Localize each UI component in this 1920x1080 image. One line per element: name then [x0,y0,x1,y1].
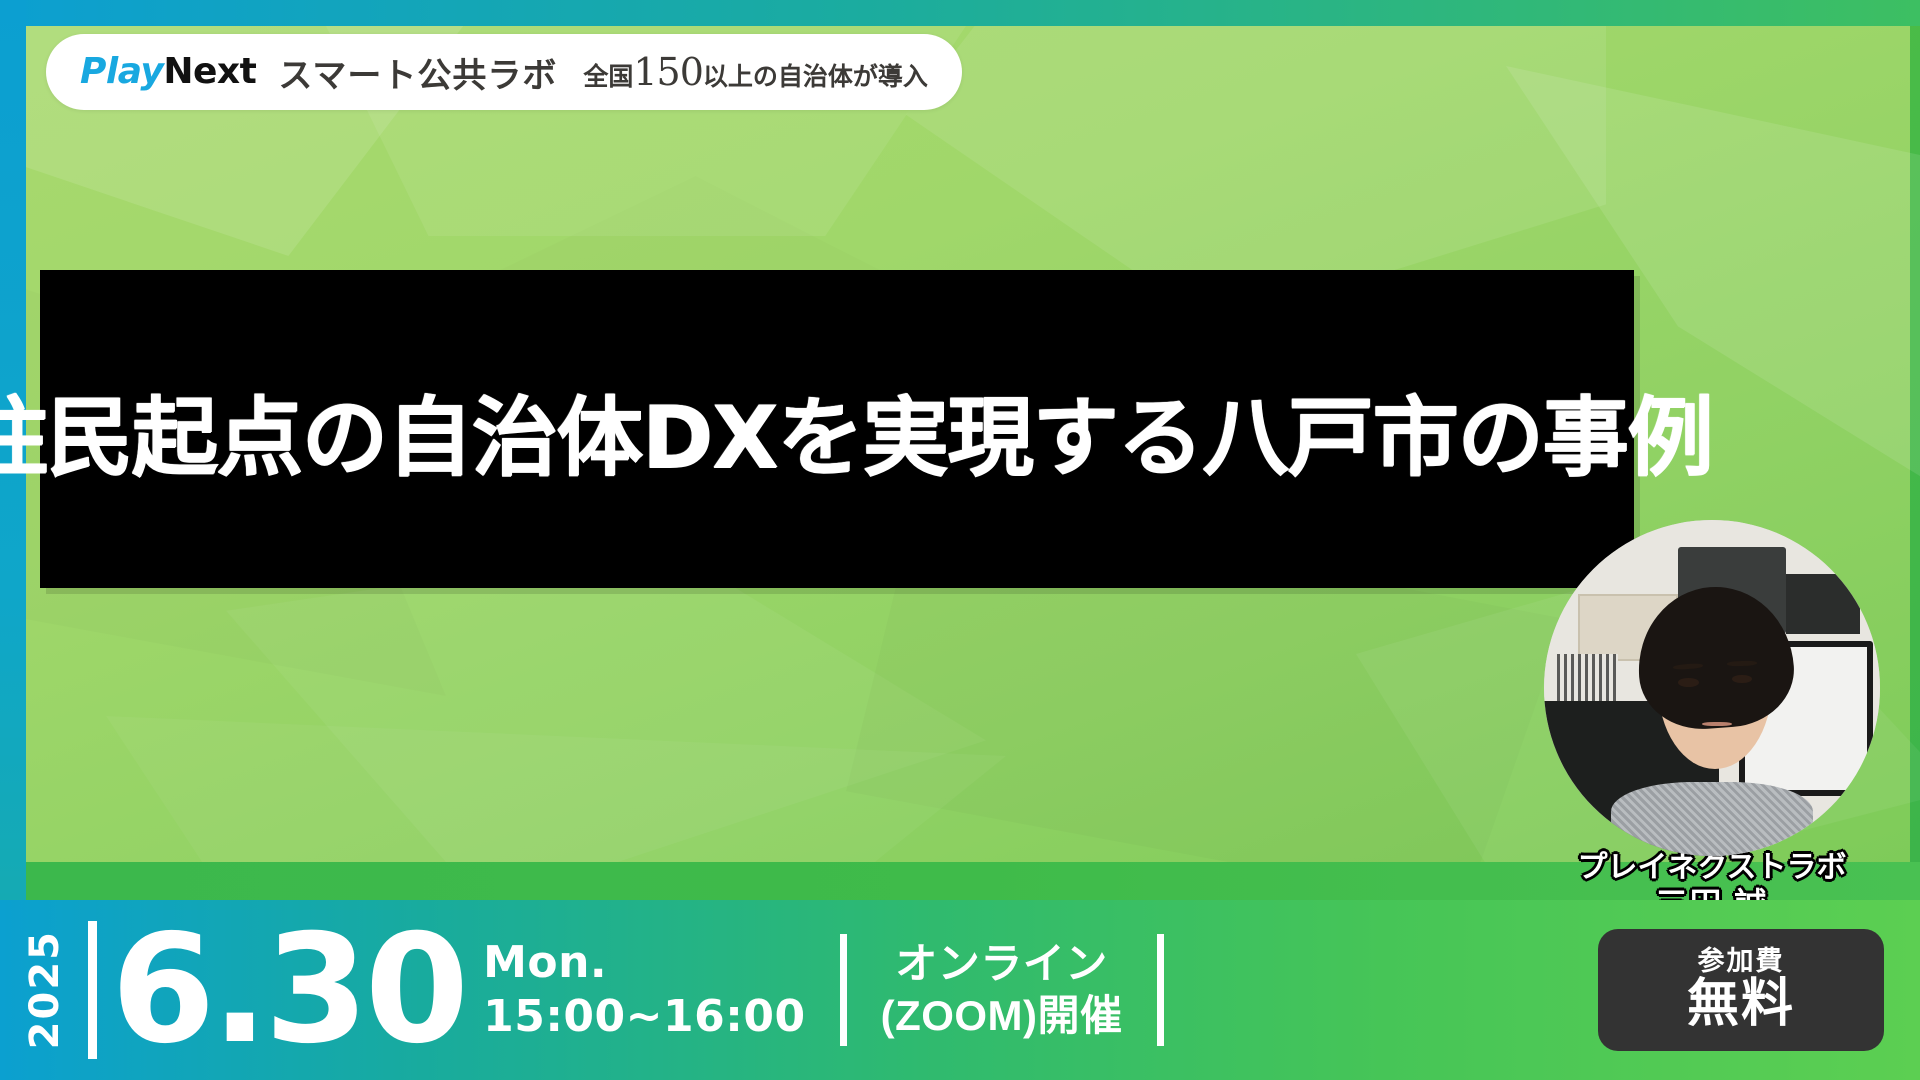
logo-play-text: Play [80,51,163,92]
adoption-count: 150 [633,50,703,94]
speaker-block: プレイネクストラボ 三田 誠 [1544,520,1880,924]
event-date: 6.30 [111,919,465,1062]
divider-venue-right [1157,934,1164,1046]
avatar-bg-router [1786,574,1860,634]
logo-next-text: Next [163,51,256,92]
avatar-shirt [1611,782,1813,856]
webinar-banner: PlayNext スマート公共ラボ 全国150以上の自治体が導入 住民起点の自治… [0,0,1920,1080]
divider-year [88,921,97,1059]
seminar-title: 住民起点の自治体DXを実現する八戸市の事例 [0,367,1712,492]
event-time: 15:00~16:00 [483,990,805,1044]
event-day-time: Mon. 15:00~16:00 [483,936,805,1043]
event-info-bar: 2025 6.30 Mon. 15:00~16:00 オンライン (ZOOM)開… [0,900,1920,1080]
adoption-prefix: 全国 [583,63,633,91]
fee-label: 参加費 [1698,947,1785,977]
event-venue-line2: (ZOOM)開催 [881,990,1123,1043]
lab-name: スマート公共ラボ [278,48,557,97]
event-weekday: Mon. [483,936,805,990]
brand-header-pill: PlayNext スマート公共ラボ 全国150以上の自治体が導入 [46,34,962,110]
divider-venue-left [840,934,847,1046]
event-year: 2025 [22,930,68,1049]
seminar-title-block: 住民起点の自治体DXを実現する八戸市の事例 [40,270,1634,588]
adoption-stat: 全国150以上の自治体が導入 [583,50,928,94]
fee-value: 無料 [1687,976,1795,1033]
event-venue-line1: オンライン [881,938,1123,991]
adoption-suffix: 以上の自治体が導入 [703,63,928,91]
fee-badge: 参加費 無料 [1598,929,1884,1051]
avatar-eye-left [1678,678,1698,687]
speaker-avatar [1544,520,1880,856]
playnext-logo: PlayNext [80,54,256,90]
event-venue: オンライン (ZOOM)開催 [881,938,1123,1043]
top-accent-rail [0,0,1920,26]
